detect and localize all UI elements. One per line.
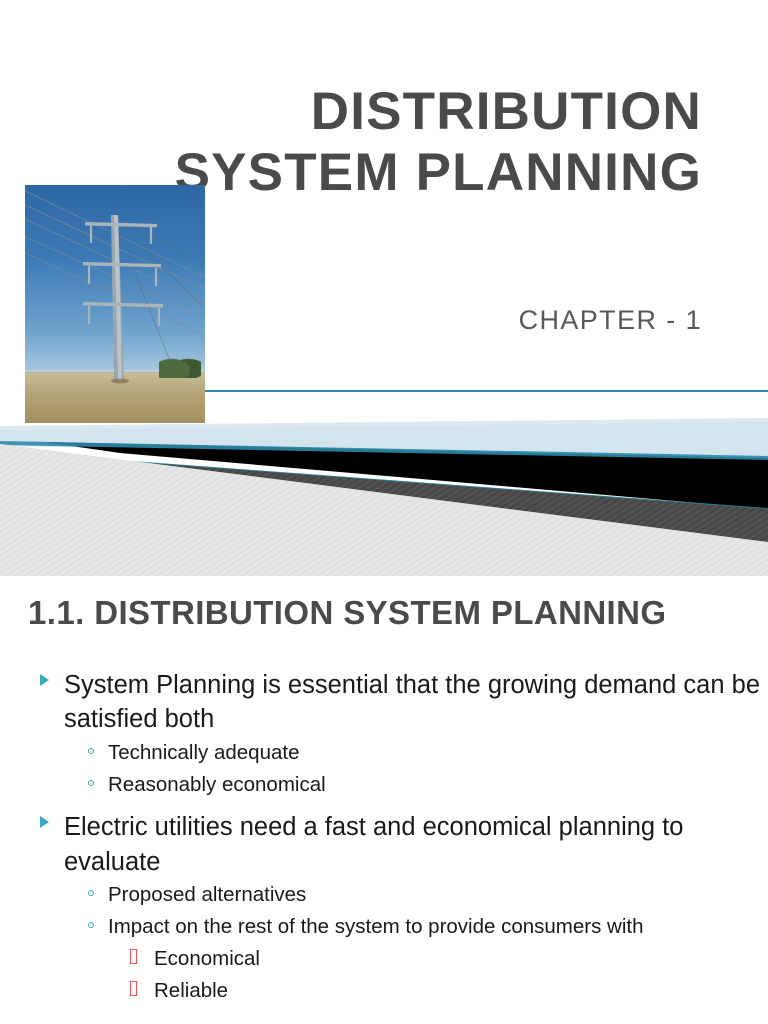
bullet-list-level-1: System Planning is essential that the gr…	[0, 668, 768, 1006]
list-item-label: Proposed alternatives	[108, 883, 306, 906]
circle-bullet-icon	[88, 922, 94, 928]
transmission-tower-photo	[25, 185, 205, 423]
list-item: Economical	[128, 943, 764, 975]
list-item: System Planning is essential that the gr…	[0, 668, 764, 800]
circle-bullet-icon	[88, 748, 94, 754]
list-item-label: Reliable	[154, 979, 228, 1002]
circle-bullet-icon	[88, 890, 94, 896]
list-item: Reliable	[128, 975, 764, 1007]
decorative-band-graphic	[0, 396, 768, 576]
section-heading: 1.1. DISTRIBUTION SYSTEM PLANNING	[28, 592, 728, 635]
list-item-label: Economical	[154, 947, 260, 970]
bullet-list-level-3: Economical Reliable	[128, 943, 764, 1007]
box-bullet-icon	[130, 981, 137, 996]
list-item: Reasonably economical	[86, 769, 764, 801]
decorative-band	[0, 396, 768, 576]
list-item-label: System Planning is essential that the gr…	[64, 671, 760, 733]
list-item-label: Technically adequate	[108, 741, 299, 764]
circle-bullet-icon	[88, 780, 94, 786]
list-item: Impact on the rest of the system to prov…	[86, 911, 764, 1006]
bullet-list-area: System Planning is essential that the gr…	[0, 668, 768, 1006]
list-item: Technically adequate	[86, 737, 764, 769]
triangle-bullet-icon	[40, 674, 49, 686]
bullet-list-level-2: Technically adequate Reasonably economic…	[86, 737, 764, 801]
list-item: Electric utilities need a fast and econo…	[0, 810, 764, 1006]
title-slide: DISTRIBUTION SYSTEM PLANNING CHAPTER - 1	[0, 0, 768, 576]
content-slide: 1.1. DISTRIBUTION SYSTEM PLANNING System…	[0, 576, 768, 1024]
box-bullet-icon	[130, 949, 137, 964]
list-item-label: Reasonably economical	[108, 773, 326, 796]
list-item-label: Impact on the rest of the system to prov…	[108, 915, 644, 938]
title-divider-rule	[205, 390, 768, 392]
list-item-label: Electric utilities need a fast and econo…	[64, 813, 683, 875]
tower-icon	[25, 185, 205, 423]
triangle-bullet-icon	[40, 816, 49, 828]
list-item: Proposed alternatives	[86, 879, 764, 911]
bullet-list-level-2: Proposed alternatives Impact on the rest…	[86, 879, 764, 1006]
